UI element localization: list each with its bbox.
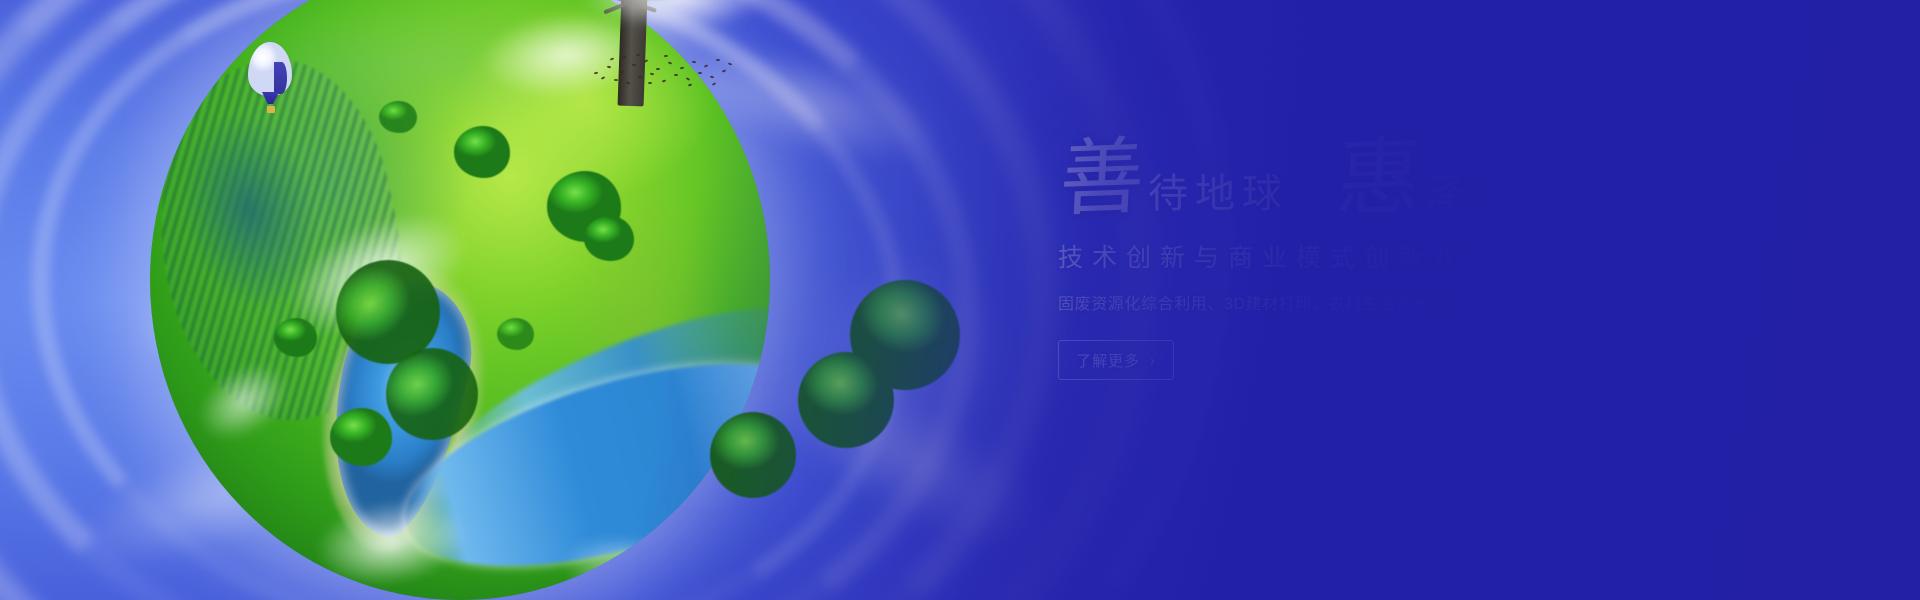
bush-cluster	[454, 126, 510, 177]
balloon-stripe	[274, 62, 287, 94]
bird	[712, 82, 716, 86]
headline-big-char-2: 惠	[1335, 138, 1423, 218]
bush-cluster	[584, 216, 634, 261]
hero-banner: 善 待地球 惠 泽华夏 技术创新与商业模式创新双驱动 固废资源化综合利用、3D建…	[0, 0, 1920, 600]
bird	[710, 75, 714, 78]
bird	[626, 81, 630, 85]
bird	[636, 53, 640, 56]
bird	[622, 56, 626, 58]
balloon-basket	[267, 106, 275, 113]
bird	[610, 57, 614, 60]
bird	[722, 69, 726, 72]
banner-description: 固废资源化综合利用、3D建材打印、农村生活污水生态净化、生态修复	[1058, 290, 1758, 314]
balloon-skirt	[262, 92, 279, 104]
bird	[601, 76, 605, 80]
bird	[614, 79, 618, 81]
bush-cluster	[330, 408, 392, 466]
bush-cluster	[497, 318, 534, 350]
bird	[688, 83, 692, 86]
learn-more-button[interactable]: 了解更多 ›	[1058, 340, 1174, 380]
headline-small-1: 待地球	[1148, 174, 1289, 218]
page-title: 善 待地球 惠 泽华夏	[1058, 132, 1758, 218]
headline-big-char-1: 善	[1058, 138, 1146, 218]
bird	[620, 71, 624, 74]
bird	[644, 59, 648, 63]
bird	[664, 55, 668, 57]
bird	[632, 64, 636, 67]
bird	[594, 71, 598, 74]
headline-small-2: 泽华夏	[1425, 174, 1566, 218]
banner-copy: 善 待地球 惠 泽华夏 技术创新与商业模式创新双驱动 固废资源化综合利用、3D建…	[1058, 132, 1758, 380]
bird	[728, 62, 732, 65]
bird	[692, 61, 696, 64]
bird	[648, 82, 652, 84]
hot-air-balloon-icon	[248, 42, 292, 120]
tree-mist	[540, 0, 810, 42]
bird	[680, 67, 684, 70]
bird	[607, 66, 611, 69]
bird	[650, 72, 654, 75]
bird	[704, 64, 708, 68]
bird	[686, 77, 690, 81]
bird	[674, 74, 678, 76]
bird	[662, 79, 666, 82]
bird	[668, 61, 672, 64]
banner-subtitle: 技术创新与商业模式创新双驱动	[1058, 238, 1758, 274]
bird	[656, 68, 660, 70]
bird	[638, 76, 642, 79]
bird	[716, 59, 720, 61]
learn-more-label: 了解更多	[1076, 350, 1140, 371]
bush-cluster	[379, 101, 416, 133]
bird	[698, 72, 702, 75]
bird-flock-icon	[592, 52, 732, 92]
chevron-right-icon: ›	[1150, 352, 1156, 368]
